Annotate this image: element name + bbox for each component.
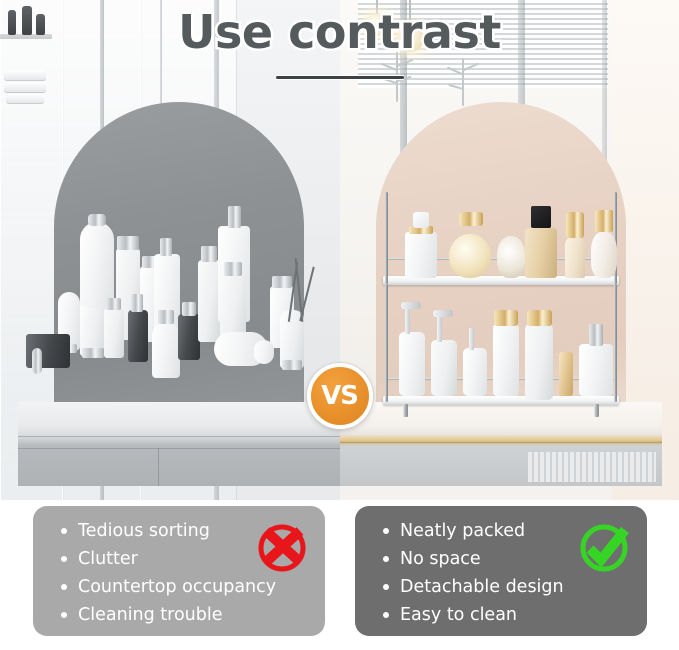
list-item: No space bbox=[381, 545, 564, 573]
panel-after-organized bbox=[340, 96, 662, 486]
bottle-cap bbox=[589, 324, 603, 346]
list-item: Clutter bbox=[59, 545, 276, 573]
pump-bottle bbox=[399, 332, 425, 396]
list-item: Detachable design bbox=[381, 573, 564, 601]
lipstick-tube bbox=[559, 352, 573, 396]
shelf-tier-lower bbox=[383, 396, 619, 405]
shelf-foot bbox=[403, 404, 408, 417]
product-bottle bbox=[104, 308, 124, 358]
shelf-post bbox=[614, 284, 617, 402]
bottle-cap bbox=[282, 360, 302, 370]
vs-label: VS bbox=[321, 383, 358, 409]
list-item: Cleaning trouble bbox=[59, 601, 276, 629]
bottle-cap bbox=[117, 236, 139, 250]
product-bottle-dark bbox=[128, 310, 148, 362]
headline: Use contrast bbox=[0, 8, 679, 56]
bottle-cap-gold bbox=[566, 212, 584, 238]
cons-box: Tedious sorting Clutter Countertop occup… bbox=[33, 506, 325, 636]
product-bottle-dark bbox=[178, 314, 200, 360]
product-comparison-graphic: Use contrast bbox=[0, 0, 679, 650]
bottle-cap bbox=[131, 294, 143, 312]
list-item: Countertop occupancy bbox=[59, 573, 276, 601]
perfume-stopper bbox=[413, 212, 429, 228]
feature-boxes: Tedious sorting Clutter Countertop occup… bbox=[0, 506, 679, 642]
pump-bottle bbox=[431, 340, 457, 396]
perfume-bottle-round bbox=[497, 236, 525, 278]
product-bottle bbox=[198, 260, 220, 342]
perfume-bottle bbox=[579, 344, 613, 396]
shelf-post bbox=[385, 192, 388, 284]
green-check-circle-icon bbox=[575, 519, 633, 577]
pump-neck bbox=[437, 316, 442, 342]
lipstick-tube bbox=[565, 236, 585, 278]
two-tier-shelf-rack bbox=[383, 192, 619, 424]
bottle-cap bbox=[224, 262, 242, 276]
shelf-foot bbox=[594, 404, 599, 417]
list-item: Easy to clean bbox=[381, 601, 564, 629]
perfume-bottle bbox=[525, 228, 557, 278]
countertop-left bbox=[18, 402, 340, 486]
bottle-cap bbox=[272, 276, 292, 288]
panel-before-cluttered bbox=[18, 96, 340, 486]
bottle-cap bbox=[160, 238, 172, 256]
bottle-cap-gold bbox=[527, 310, 552, 326]
perfume-bottle-fluted bbox=[591, 232, 617, 278]
bottle-cap-gold bbox=[494, 310, 518, 326]
perfume-bottle-round bbox=[449, 234, 491, 278]
perfume-cap-black bbox=[531, 206, 551, 228]
cons-list: Tedious sorting Clutter Countertop occup… bbox=[59, 517, 276, 629]
list-item: Tedious sorting bbox=[59, 517, 276, 545]
red-x-circle-icon bbox=[253, 519, 311, 577]
faucet bbox=[32, 348, 42, 374]
bottle-cap bbox=[82, 348, 104, 358]
bottle-cap-gold bbox=[459, 212, 483, 226]
lotion-bottle bbox=[493, 324, 519, 396]
shelf-post bbox=[385, 284, 388, 402]
product-jar bbox=[254, 340, 274, 364]
page-title: Use contrast bbox=[178, 8, 501, 56]
product-bottle bbox=[152, 322, 180, 378]
pros-list: Neatly packed No space Detachable design… bbox=[381, 517, 564, 629]
pump-neck bbox=[469, 328, 474, 350]
pump-bottle bbox=[463, 348, 487, 396]
pump-head bbox=[433, 310, 453, 317]
list-item: Neatly packed bbox=[381, 517, 564, 545]
bottle-cap bbox=[158, 310, 174, 324]
bottle-cap bbox=[106, 298, 121, 310]
bottle-cap bbox=[201, 246, 217, 262]
pump-head bbox=[401, 302, 421, 309]
perfume-bottle bbox=[405, 232, 437, 278]
lotion-bottle bbox=[525, 324, 553, 400]
cabinet-slats bbox=[528, 452, 656, 482]
folded-towel bbox=[4, 82, 46, 92]
folded-towel bbox=[4, 70, 46, 80]
bottle-cap bbox=[228, 206, 241, 228]
bottle-cap bbox=[182, 302, 196, 316]
vs-badge: VS bbox=[307, 363, 373, 429]
bottle-cap bbox=[88, 214, 106, 226]
comparison-panels: VS bbox=[0, 96, 679, 486]
bottle-cap-gold bbox=[595, 210, 613, 232]
product-bottle bbox=[80, 222, 114, 308]
pump-neck bbox=[405, 308, 410, 334]
title-underline bbox=[276, 76, 404, 79]
pros-box: Neatly packed No space Detachable design… bbox=[355, 506, 647, 636]
